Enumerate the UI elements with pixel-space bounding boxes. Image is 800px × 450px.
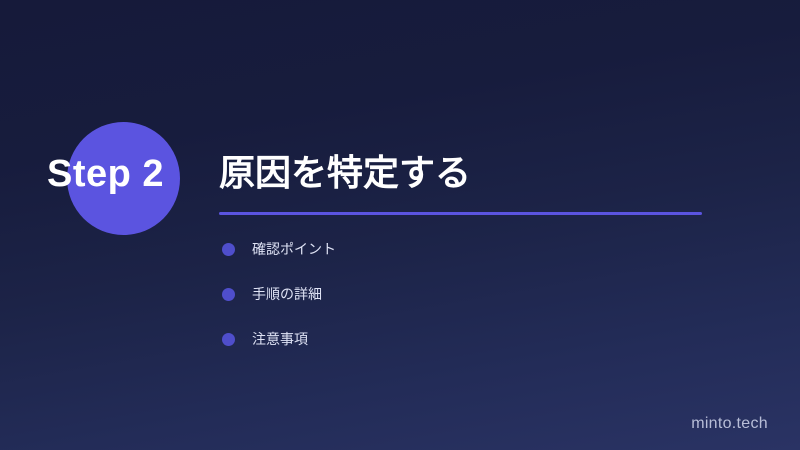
slide-canvas: Step 2 原因を特定する 確認ポイント 手順の詳細 注意事項 minto.t…: [0, 0, 800, 450]
bullet-list: 確認ポイント 手順の詳細 注意事項: [222, 236, 336, 371]
list-item-label: 手順の詳細: [252, 287, 322, 301]
title-divider: [219, 212, 702, 215]
list-item: 手順の詳細: [222, 281, 336, 307]
list-item-label: 注意事項: [252, 332, 308, 346]
list-item-label: 確認ポイント: [252, 242, 336, 256]
step-label: Step 2: [47, 155, 164, 193]
list-item: 確認ポイント: [222, 236, 336, 262]
bullet-dot-icon: [222, 288, 235, 301]
page-title: 原因を特定する: [219, 152, 471, 193]
bullet-dot-icon: [222, 333, 235, 346]
list-item: 注意事項: [222, 326, 336, 352]
bullet-dot-icon: [222, 243, 235, 256]
watermark-brand: minto.tech: [691, 415, 768, 433]
